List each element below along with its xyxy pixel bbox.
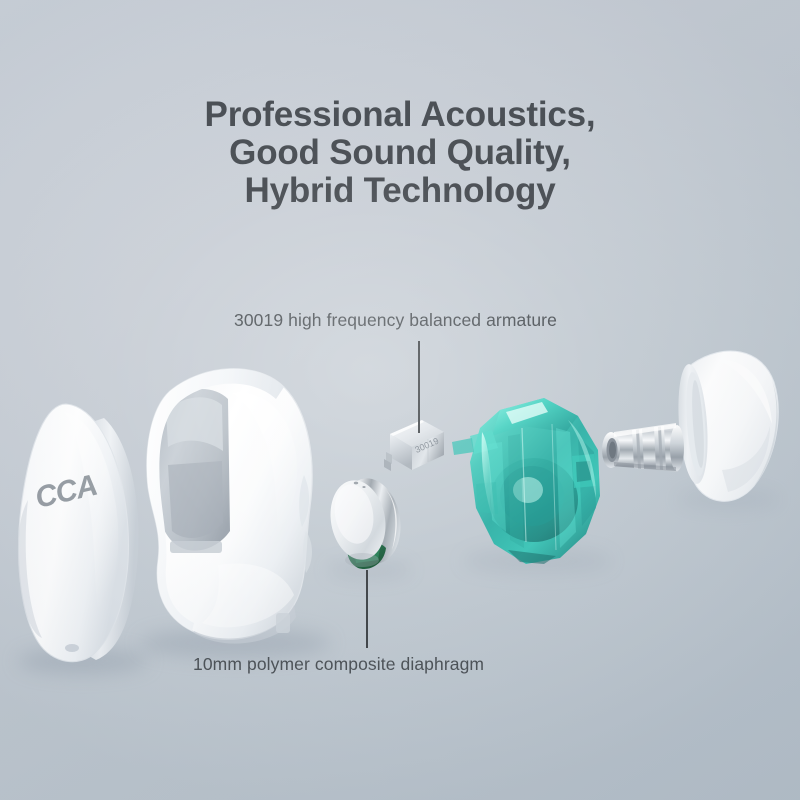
headline-line-2: Good Sound Quality,: [0, 134, 800, 172]
balanced-armature-part: 30019: [382, 412, 448, 486]
leader-line-dynamic-driver: [366, 570, 368, 648]
headline-line-3: Hybrid Technology: [0, 172, 800, 210]
product-image-canvas: Professional Acoustics, Good Sound Quali…: [0, 0, 800, 800]
callout-label-dynamic-driver: 10mm polymer composite diaphragm: [193, 654, 484, 675]
headline-line-1: Professional Acoustics,: [0, 96, 800, 134]
leader-line-balanced-armature: [418, 341, 420, 433]
inner-cavity-part: [448, 392, 618, 568]
callout-label-balanced-armature: 30019 high frequency balanced armature: [234, 310, 557, 331]
faceplate-part: CCA: [8, 390, 158, 670]
page-title: Professional Acoustics, Good Sound Quali…: [0, 96, 800, 210]
sound-nozzle-part: [598, 408, 690, 494]
